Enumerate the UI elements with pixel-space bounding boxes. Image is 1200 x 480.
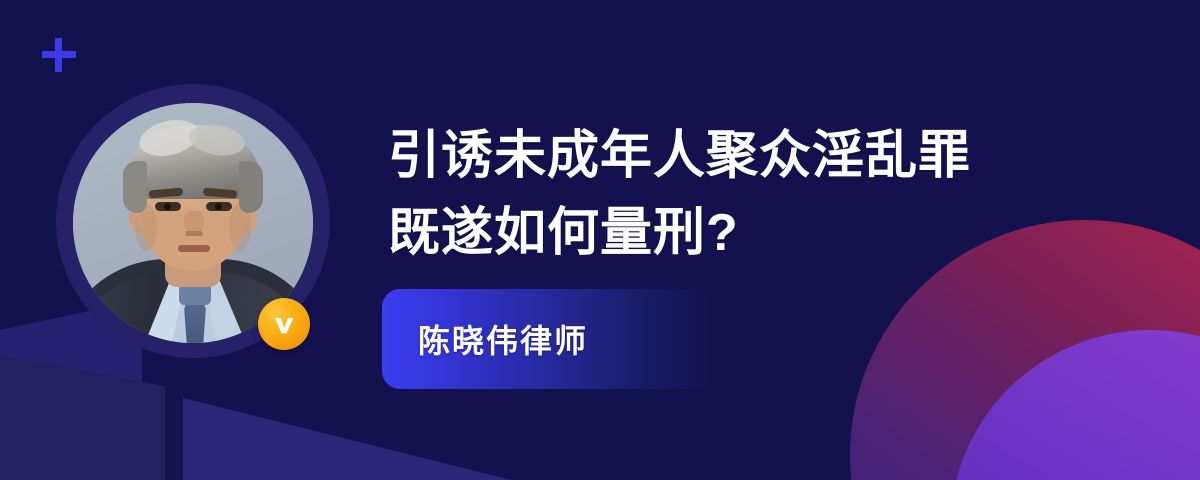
page-title: 引诱未成年人聚众淫乱罪 既遂如何量刑?: [388, 118, 1078, 272]
lawyer-qa-banner: 引诱未成年人聚众淫乱罪 既遂如何量刑? 陈晓伟律师: [0, 0, 1200, 480]
decorative-triangle-bottom-center: [183, 398, 543, 480]
author-name-chip: 陈晓伟律师: [382, 289, 718, 389]
verified-check-icon: [258, 298, 310, 350]
plus-icon: [42, 38, 76, 72]
author-name-label: 陈晓伟律师: [418, 316, 588, 362]
headline-block: 引诱未成年人聚众淫乱罪 既遂如何量刑?: [388, 118, 1078, 272]
